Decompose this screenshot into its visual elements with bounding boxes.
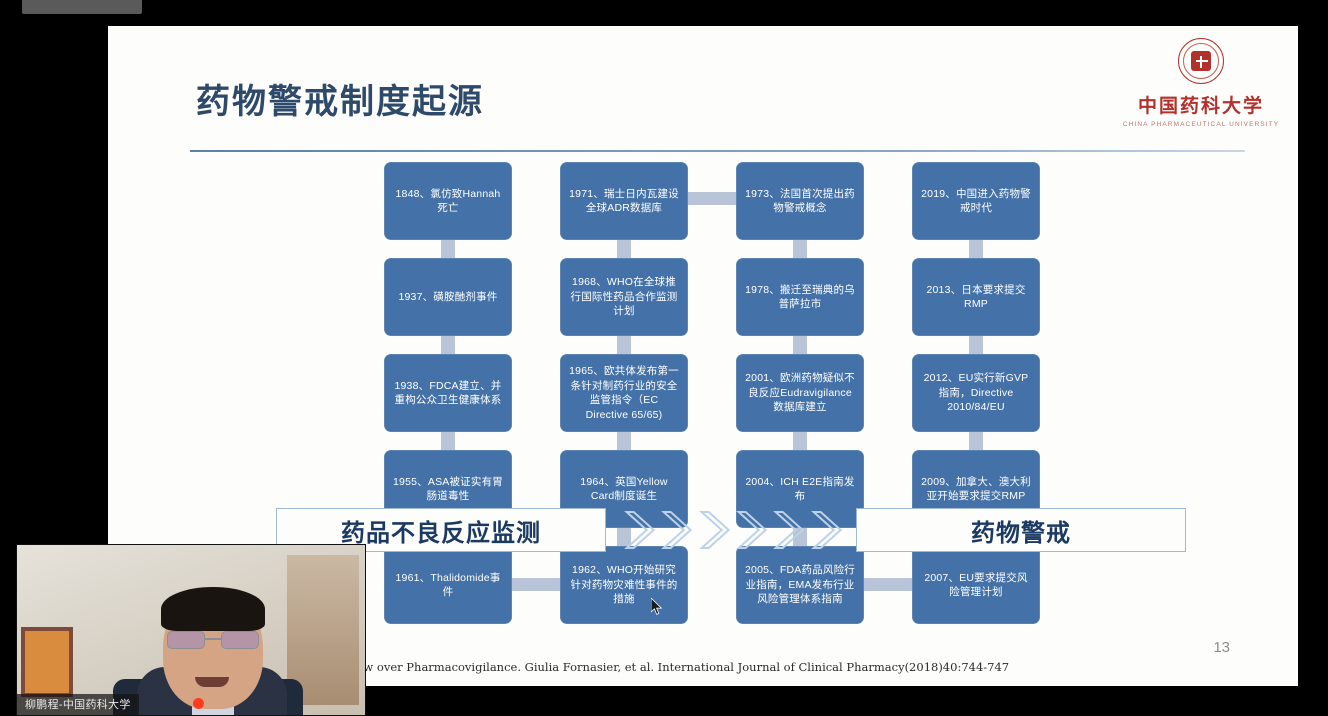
webcam-person-mouth — [195, 677, 229, 687]
connector-vertical — [441, 432, 455, 450]
connector-vertical — [793, 336, 807, 354]
bottom-banner: 药品不良反应监测 药物警戒 — [276, 508, 1186, 552]
timeline-node[interactable]: 1973、法国首次提出药物警戒概念 — [736, 162, 864, 240]
chevron-right-icon — [657, 510, 692, 550]
timeline-node[interactable]: 2007、EU要求提交风险管理计划 — [912, 546, 1040, 624]
chevron-right-icon — [769, 510, 804, 550]
chevron-right-icon — [620, 510, 655, 550]
connector-horizontal — [512, 578, 560, 591]
page-number: 13 — [1213, 639, 1230, 656]
title-divider — [190, 150, 1245, 152]
timeline-node[interactable]: 2005、FDA药品风险行业指南，EMA发布行业风险管理体系指南 — [736, 546, 864, 624]
connector-vertical — [969, 336, 983, 354]
webcam-picture-frame-inner — [25, 631, 69, 693]
chevron-right-icon — [807, 510, 842, 550]
screen-root: 药物警戒制度起源 中国药科大学 CHINA PHARMACEUTICAL UNI… — [0, 0, 1328, 716]
webcam-person-hair — [161, 587, 265, 631]
timeline-node[interactable]: 1938、FDCA建立、并重构公众卫生健康体系 — [384, 354, 512, 432]
timeline-node[interactable]: 1965、欧共体发布第一条针对制药行业的安全监管指令（EC Directive … — [560, 354, 688, 432]
mouse-cursor-icon — [651, 598, 663, 616]
connector-vertical — [969, 240, 983, 258]
university-seal-icon — [1178, 38, 1224, 84]
connector-vertical — [617, 240, 631, 258]
chevron-arrow-group — [620, 510, 842, 550]
connector-vertical — [617, 432, 631, 450]
citation-text: orical overview over Pharmacovigilance. … — [284, 660, 1009, 674]
banner-label-right: 药物警戒 — [856, 508, 1186, 552]
logo-name-en: CHINA PHARMACEUTICAL UNIVERSITY — [1123, 121, 1279, 128]
connector-horizontal — [864, 578, 912, 591]
glasses-icon — [167, 631, 259, 649]
timeline-node[interactable]: 1848、氯仿致Hannah死亡 — [384, 162, 512, 240]
logo-name-cn: 中国药科大学 — [1138, 91, 1264, 118]
window-tab[interactable] — [22, 0, 142, 14]
timeline-node[interactable]: 1937、磺胺酏剂事件 — [384, 258, 512, 336]
timeline-grid: 1848、氯仿致Hannah死亡 1937、磺胺酏剂事件 1938、FDCA建立… — [384, 162, 1054, 640]
timeline-node[interactable]: 1968、WHO在全球推行国际性药品合作监测计划 — [560, 258, 688, 336]
recording-dot-icon — [193, 698, 204, 709]
chevron-right-icon — [695, 510, 730, 550]
top-strip — [0, 0, 1328, 18]
connector-vertical — [969, 432, 983, 450]
connector-horizontal — [688, 192, 736, 205]
chevron-right-icon — [732, 510, 767, 550]
university-logo: 中国药科大学 CHINA PHARMACEUTICAL UNIVERSITY — [1126, 38, 1276, 136]
timeline-node[interactable]: 1962、WHO开始研究针对药物灾难性事件的措施 — [560, 546, 688, 624]
timeline-node[interactable]: 1971、瑞士日内瓦建设全球ADR数据库 — [560, 162, 688, 240]
connector-vertical — [793, 240, 807, 258]
webcam-video-tile[interactable]: 柳鹏程-中国药科大学 — [16, 544, 366, 716]
connector-vertical — [793, 432, 807, 450]
timeline-node[interactable]: 2019、中国进入药物警戒时代 — [912, 162, 1040, 240]
page-title: 药物警戒制度起源 — [196, 74, 484, 123]
participant-name-label: 柳鹏程-中国药科大学 — [17, 694, 139, 715]
connector-vertical — [441, 336, 455, 354]
timeline-node[interactable]: 1961、Thalidomide事件 — [384, 546, 512, 624]
timeline-node[interactable]: 1978、搬迁至瑞典的乌普萨拉市 — [736, 258, 864, 336]
timeline-node[interactable]: 2013、日本要求提交RMP — [912, 258, 1040, 336]
connector-vertical — [441, 240, 455, 258]
timeline-node[interactable]: 2001、欧洲药物疑似不良反应Eudravigilance数据库建立 — [736, 354, 864, 432]
timeline-node[interactable]: 2012、EU实行新GVP指南，Directive 2010/84/EU — [912, 354, 1040, 432]
connector-vertical — [617, 336, 631, 354]
